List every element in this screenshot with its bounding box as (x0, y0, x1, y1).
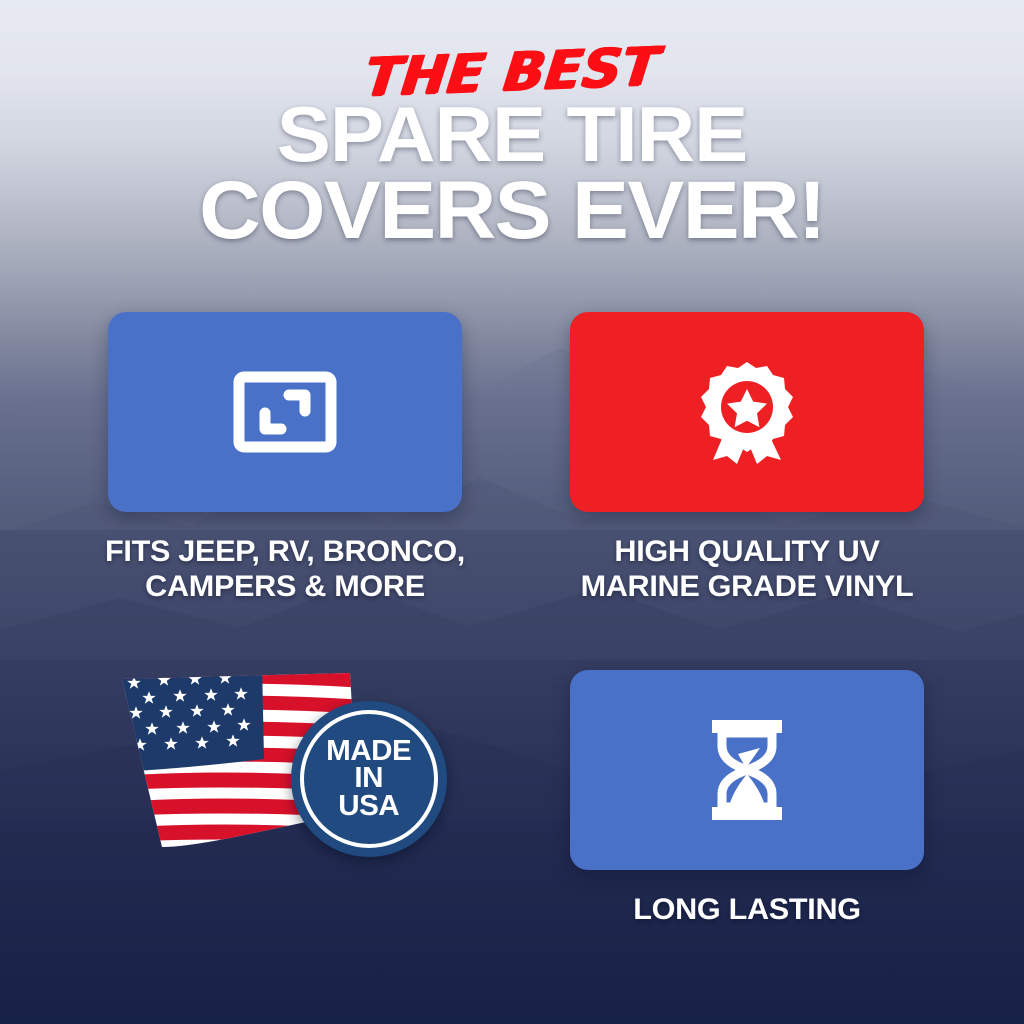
promo-poster: THE BEST SPARE TIRE COVERS EVER! FITS JE… (0, 0, 1024, 1024)
feature-card-quality-vinyl (570, 312, 924, 512)
hourglass-icon (708, 718, 786, 822)
headline-line-1: SPARE TIRE (0, 97, 1024, 172)
headline-line-2: COVERS EVER! (0, 172, 1024, 251)
feature-item-long-lasting: LONG LASTING (570, 670, 924, 927)
resize-fit-frame-icon (233, 371, 337, 453)
feature-card-long-lasting (570, 670, 924, 870)
feature-item-made-in-usa: MADE IN USA (108, 667, 462, 867)
badge-label: MADE IN USA (326, 738, 411, 821)
feature-caption-long-lasting: LONG LASTING (566, 892, 927, 927)
feature-caption-fits-vehicles: FITS JEEP, RV, BRONCO, CAMPERS & MORE (104, 534, 465, 604)
feature-item-quality-vinyl: HIGH QUALITY UV MARINE GRADE VINYL (570, 312, 924, 604)
feature-card-fits-vehicles (108, 312, 462, 512)
made-in-usa-badge: MADE IN USA (291, 701, 447, 857)
headline-block: THE BEST SPARE TIRE COVERS EVER! (0, 46, 1024, 251)
award-ribbon-star-icon (699, 360, 795, 464)
made-in-usa-block: MADE IN USA (108, 667, 462, 867)
feature-item-fits-vehicles: FITS JEEP, RV, BRONCO, CAMPERS & MORE (108, 312, 462, 604)
feature-caption-quality-vinyl: HIGH QUALITY UV MARINE GRADE VINYL (566, 534, 927, 604)
